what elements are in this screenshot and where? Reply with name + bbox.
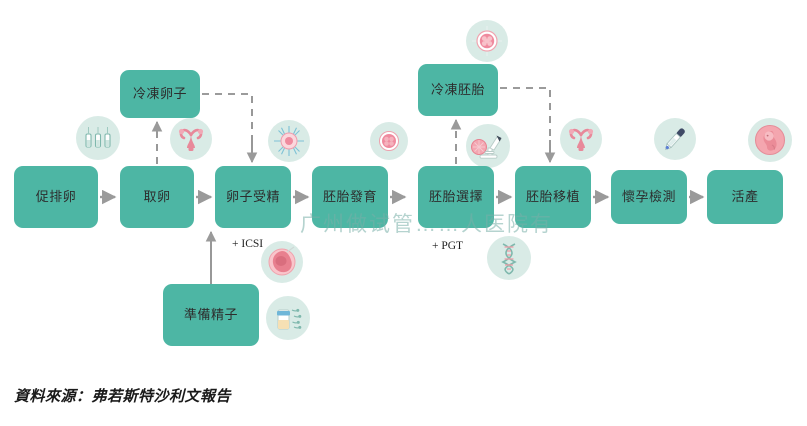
dna-helix-icon [487, 236, 531, 280]
baby-fetus-icon [748, 118, 792, 162]
microscope-icon [466, 124, 510, 168]
step-ovarian-stimulation-label: 促排卵 [36, 189, 77, 205]
step-embryo-transfer-label: 胚胎移植 [526, 189, 580, 205]
step-embryo-transfer[interactable]: 胚胎移植 [515, 166, 591, 228]
note-pgt: + PGT [432, 240, 463, 252]
sperm-sample-icon [266, 296, 310, 340]
step-fertilization-label: 卵子受精 [226, 189, 280, 205]
step-pregnancy-test[interactable]: 懷孕檢測 [611, 170, 687, 224]
fertilized-egg-icon [268, 120, 310, 162]
note-icsi: + ICSI [232, 238, 263, 250]
step-fertilization[interactable]: 卵子受精 [215, 166, 291, 228]
step-embryo-development[interactable]: 胚胎發育 [312, 166, 388, 228]
node-frozen-eggs-label: 冷凍卵子 [133, 86, 187, 102]
step-live-birth-label: 活產 [731, 189, 758, 205]
uterus-icon [560, 118, 602, 160]
step-ovarian-stimulation[interactable]: 促排卵 [14, 166, 98, 228]
node-frozen-embryos-label: 冷凍胚胎 [431, 82, 485, 98]
step-live-birth[interactable]: 活產 [707, 170, 783, 224]
step-egg-retrieval[interactable]: 取卵 [120, 166, 194, 228]
zygote-icon [261, 241, 303, 283]
pregnancy-test-icon [654, 118, 696, 160]
uterus-icon [170, 118, 212, 160]
step-embryo-development-label: 胚胎發育 [323, 189, 377, 205]
embryo-icon [370, 122, 408, 160]
syringes-icon [76, 116, 120, 160]
node-sperm-prep[interactable]: 準備精子 [163, 284, 259, 346]
node-frozen-eggs[interactable]: 冷凍卵子 [120, 70, 200, 118]
node-sperm-prep-label: 準備精子 [184, 307, 238, 323]
node-frozen-embryos[interactable]: 冷凍胚胎 [418, 64, 498, 116]
step-egg-retrieval-label: 取卵 [143, 189, 170, 205]
step-embryo-selection[interactable]: 胚胎選擇 [418, 166, 494, 228]
flowchart-canvas: 冷凍卵子 冷凍胚胎 準備精子 促排卵 取卵 卵子受精 胚胎發育 胚胎選擇 胚胎移… [0, 0, 807, 426]
step-embryo-selection-label: 胚胎選擇 [429, 189, 483, 205]
step-pregnancy-test-label: 懷孕檢測 [622, 189, 676, 205]
source-note: 資料來源：弗若斯特沙利文報告 [14, 385, 231, 406]
blastocyst-icon [466, 20, 508, 62]
